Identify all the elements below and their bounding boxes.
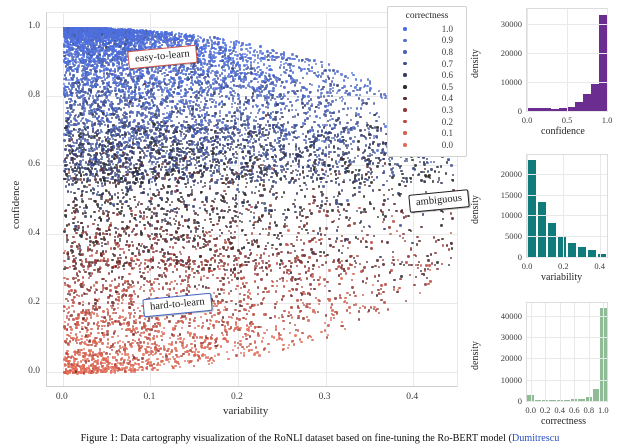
legend-swatch-dot-icon <box>403 108 407 112</box>
y-tick-label: 0.4 <box>16 228 40 238</box>
legend-entry-label: 0.3 <box>442 105 453 115</box>
histogram-y-tick-label: 0 <box>484 252 522 262</box>
legend-entry[interactable]: 0.7 <box>394 58 460 70</box>
legend-entry[interactable]: 0.3 <box>394 104 460 116</box>
legend-title: correctness <box>394 11 460 21</box>
figure-container: 0.00.10.20.30.4 0.00.20.40.60.81.0 varia… <box>0 0 640 447</box>
histogram-bar <box>568 243 577 257</box>
x-tick-label: 0.3 <box>319 392 331 402</box>
correctness-plot-area <box>526 302 608 402</box>
histogram-x-tick-label: 0.2 <box>540 405 551 415</box>
histogram-x-tick-label: 0.8 <box>584 405 595 415</box>
variability-y-axis-title: density <box>470 195 481 224</box>
histogram-y-tick-label: 30000 <box>484 19 522 29</box>
legend-entry-label: 0.0 <box>442 140 453 150</box>
histogram-bar <box>593 389 599 401</box>
histogram-x-tick-label: 1.0 <box>598 405 609 415</box>
legend-entry-label: 0.5 <box>442 82 453 92</box>
legend-entry[interactable]: 0.5 <box>394 81 460 93</box>
legend-swatch-dot-icon <box>403 120 407 124</box>
legend-swatch-dot-icon <box>403 131 407 135</box>
histogram-bar <box>538 202 547 257</box>
gridline-horizontal <box>527 337 607 338</box>
legend-entry-label: 0.4 <box>442 93 453 103</box>
histogram-y-tick-label: 30000 <box>484 332 522 342</box>
legend-swatch-dot-icon <box>403 85 407 89</box>
legend-entry[interactable]: 0.4 <box>394 93 460 105</box>
correctness-bars <box>527 303 607 401</box>
variability-plot-area <box>526 154 608 258</box>
histogram-bar <box>558 237 567 257</box>
histogram-bar <box>599 15 606 111</box>
legend-entry-label: 0.7 <box>442 59 453 69</box>
histogram-y-tick-label: 0 <box>484 106 522 116</box>
gridline-vertical <box>607 9 608 111</box>
gridline-horizontal <box>527 380 607 381</box>
histogram-y-tick-label: 0 <box>484 396 522 406</box>
histogram-x-tick-label: 0.6 <box>569 405 580 415</box>
gridline-vertical <box>567 9 568 111</box>
legend-swatch-dot-icon <box>403 97 407 101</box>
legend-entry[interactable]: 0.1 <box>394 127 460 139</box>
confidence-x-axis-title: confidence <box>541 126 585 137</box>
gridline-horizontal <box>527 257 607 258</box>
legend-entry[interactable]: 0.9 <box>394 35 460 47</box>
legend-entry-label: 0.2 <box>442 117 453 127</box>
gridline-vertical <box>603 303 604 401</box>
histogram-y-tick-label: 10000 <box>484 375 522 385</box>
scatter-x-axis-title: variability <box>223 405 268 417</box>
confidence-plot-area <box>526 8 608 112</box>
legend-entry[interactable]: 0.0 <box>394 139 460 151</box>
caption-prefix: Figure 1: <box>81 433 121 444</box>
gridline-vertical <box>545 303 546 401</box>
legend-entry[interactable]: 0.2 <box>394 116 460 128</box>
legend-entry[interactable]: 0.8 <box>394 46 460 58</box>
gridline-horizontal <box>527 195 607 196</box>
gridline-vertical <box>563 155 564 257</box>
y-tick-label: 0.2 <box>16 297 40 307</box>
y-tick-label: 1.0 <box>16 21 40 31</box>
histogram-bar <box>548 223 557 257</box>
histogram-bar <box>575 102 582 111</box>
legend-swatch-dot-icon <box>403 50 407 54</box>
confidence-y-axis-title: density <box>470 49 481 78</box>
legend-entry-label: 0.8 <box>442 47 453 57</box>
legend-entries: 1.00.90.80.70.60.50.40.30.20.10.0 <box>394 23 460 151</box>
legend-entry-label: 0.9 <box>442 35 453 45</box>
histogram-bar <box>528 160 537 257</box>
y-tick-label: 0.8 <box>16 90 40 100</box>
caption-citation-link[interactable]: Dumitrescu <box>512 433 560 444</box>
gridline-vertical <box>574 303 575 401</box>
gridline-horizontal <box>527 111 607 112</box>
histogram-x-tick-label: 0.5 <box>562 115 573 125</box>
histogram-x-tick-label: 0.2 <box>558 261 569 271</box>
histogram-y-tick-label: 20000 <box>484 353 522 363</box>
histogram-y-tick-label: 15000 <box>484 190 522 200</box>
legend-entry-label: 0.1 <box>442 128 453 138</box>
gridline-vertical <box>531 303 532 401</box>
histogram-y-tick-label: 5000 <box>484 231 522 241</box>
correctness-histogram-panel: 0.00.20.40.60.81.0 010000200003000040000… <box>470 296 640 436</box>
gridline-horizontal <box>527 236 607 237</box>
legend-entry-label: 1.0 <box>442 24 453 34</box>
confidence-histogram-panel: 0.00.51.0 0100002000030000 confidence de… <box>470 0 640 148</box>
histogram-bar <box>583 94 590 111</box>
x-tick-label: 0.0 <box>56 392 68 402</box>
histogram-y-tick-label: 20000 <box>484 169 522 179</box>
histogram-bar <box>588 250 597 257</box>
histogram-y-tick-label: 10000 <box>484 210 522 220</box>
x-tick-label: 0.4 <box>406 392 418 402</box>
caption-text: Data cartography visualization of the Ro… <box>120 433 512 444</box>
gridline-vertical <box>527 9 528 111</box>
gridline-vertical <box>589 303 590 401</box>
gridline-horizontal <box>527 358 607 359</box>
legend-entry[interactable]: 1.0 <box>394 23 460 35</box>
histogram-x-tick-label: 0.0 <box>522 115 533 125</box>
gridline-horizontal <box>527 174 607 175</box>
legend-swatch-dot-icon <box>403 62 407 66</box>
correctness-x-axis-title: correctness <box>541 416 586 427</box>
y-tick-label: 0.0 <box>16 366 40 376</box>
histogram-x-tick-label: 1.0 <box>602 115 613 125</box>
gridline-vertical <box>560 303 561 401</box>
histogram-x-tick-label: 0.0 <box>525 405 536 415</box>
variability-bars <box>527 155 607 257</box>
correctness-y-axis-title: density <box>470 341 481 370</box>
gridline-horizontal <box>527 316 607 317</box>
variability-histogram-panel: 0.00.20.4 05000100001500020000 variabili… <box>470 148 640 296</box>
correctness-legend: correctness 1.00.90.80.70.60.50.40.30.20… <box>387 6 467 157</box>
gridline-vertical <box>527 155 528 257</box>
x-tick-label: 0.1 <box>143 392 155 402</box>
histogram-bar <box>578 247 587 257</box>
histogram-y-tick-label: 40000 <box>484 311 522 321</box>
histogram-x-tick-label: 0.4 <box>594 261 605 271</box>
y-tick-label: 0.6 <box>16 159 40 169</box>
histogram-x-tick-label: 0.0 <box>522 261 533 271</box>
gridline-horizontal <box>527 401 607 402</box>
gridline-horizontal <box>527 215 607 216</box>
legend-swatch-dot-icon <box>403 27 407 31</box>
variability-x-axis-title: variability <box>541 272 582 283</box>
gridline-vertical <box>600 155 601 257</box>
legend-entry-label: 0.6 <box>442 70 453 80</box>
legend-entry[interactable]: 0.6 <box>394 69 460 81</box>
legend-swatch-dot-icon <box>403 143 407 147</box>
histogram-bar <box>591 84 598 111</box>
scatter-y-axis-title: confidence <box>10 180 22 228</box>
x-tick-label: 0.2 <box>231 392 243 402</box>
histogram-x-tick-label: 0.4 <box>554 405 565 415</box>
figure-caption: Figure 1: Data cartography visualization… <box>0 432 640 445</box>
histogram-y-tick-label: 20000 <box>484 48 522 58</box>
legend-swatch-dot-icon <box>403 73 407 77</box>
histogram-y-tick-label: 10000 <box>484 77 522 87</box>
legend-swatch-dot-icon <box>403 39 407 43</box>
